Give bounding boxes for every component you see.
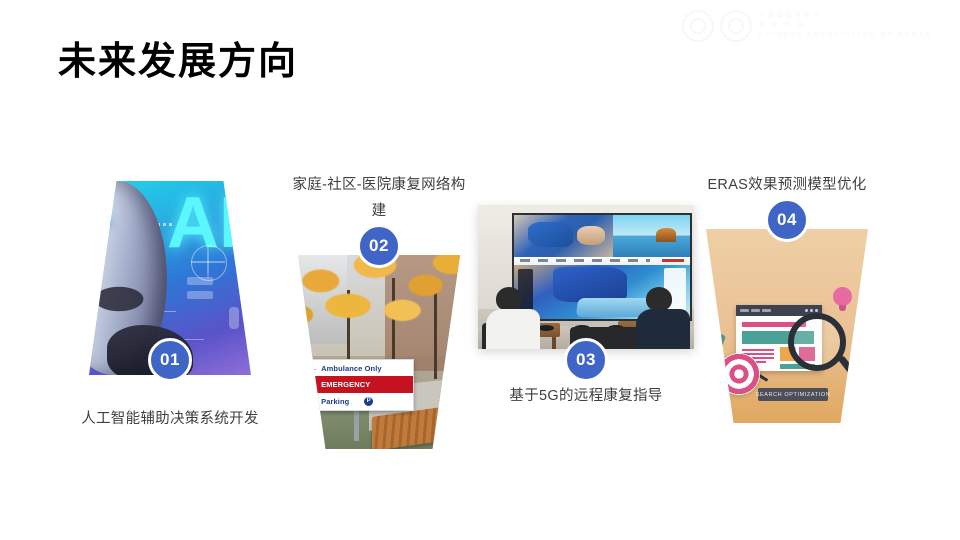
card-02-shape: ← Ambulance Only ← EMERGENCY ← Parking P… (289, 246, 469, 458)
sign-row-emergency: ← EMERGENCY (305, 376, 413, 393)
card-03-image (478, 205, 694, 349)
attendee-right (646, 287, 690, 349)
card-03-number-badge: 03 (564, 338, 608, 382)
card-02-image: ← Ambulance Only ← EMERGENCY ← Parking P (298, 255, 460, 449)
hud-plate-2 (187, 291, 213, 299)
attendee-right-head (646, 287, 672, 311)
browser-dot-3 (815, 309, 818, 312)
watermark-line-2: 康 复 科 普 (758, 22, 932, 30)
search-icon (788, 313, 846, 371)
card-03-caption: 基于5G的远程康复指导 (478, 383, 694, 409)
microphone-1 (538, 325, 554, 331)
watermark-text: 中国康复医学会 康 复 科 普 CHINESE ASSOCIATION OF R… (758, 12, 932, 40)
scenery-feed (613, 215, 690, 257)
card-02-caption: 家庭-社区-医院康复网络构建 (289, 172, 469, 224)
card-04[interactable]: ERAS效果预测模型优化 (697, 172, 877, 432)
card-04-caption: ERAS效果预测模型优化 (697, 172, 877, 198)
sign-post (354, 409, 359, 441)
sign-text-ambulance: Ambulance Only (321, 364, 382, 373)
watermark-line-1: 中国康复医学会 (758, 12, 932, 20)
hud-plate-3 (229, 307, 239, 329)
lightbulb-icon (833, 287, 852, 306)
watermark-line-3: CHINESE ASSOCIATION OF REHAB (758, 32, 932, 40)
card-04-number-badge: 04 (765, 198, 809, 242)
operating-room-feed (514, 215, 613, 257)
hospital-signboard: ← Ambulance Only ← EMERGENCY ← Parking P (304, 359, 414, 411)
sign-text-parking: Parking (321, 397, 349, 406)
globe-icon (191, 245, 227, 281)
card-01-shape: AI 01 (80, 172, 260, 384)
card-01-number-badge: 01 (148, 338, 192, 382)
card-02-number-badge: 02 (357, 224, 401, 268)
autumn-foliage (298, 255, 460, 360)
watermark-logo: 中国康复医学会 康 复 科 普 CHINESE ASSOCIATION OF R… (682, 10, 932, 42)
attendee-left-body (486, 309, 540, 349)
attendee-right-body (636, 309, 690, 349)
seo-label: SEARCH OPTIMIZATION (758, 388, 828, 401)
watermark-seal-icon (682, 10, 714, 42)
app-toolbar (514, 257, 690, 265)
desk-leg-2 (552, 337, 556, 349)
attendee-left-head (496, 287, 522, 311)
watermark-seal-secondary-icon (720, 10, 752, 42)
card-04-shape: SEARCH OPTIMIZATION 04 (697, 220, 877, 432)
parking-icon: P (364, 397, 373, 406)
card-02[interactable]: 家庭-社区-医院康复网络构建 ← Ambulance Only (289, 172, 469, 458)
seo-illustration-artwork: SEARCH OPTIMIZATION (706, 229, 868, 423)
hud-plate-1 (187, 277, 213, 285)
card-01-caption: 人工智能辅助决策系统开发 (80, 406, 260, 432)
surgical-drape (553, 267, 627, 302)
browser-tab-1 (740, 309, 749, 312)
sign-row-ambulance: ← Ambulance Only (305, 360, 413, 376)
telemedicine-room-artwork (478, 205, 694, 349)
browser-dot-2 (810, 309, 813, 312)
card-01[interactable]: AI 01 人工智能辅助决策系统开发 (80, 172, 260, 432)
attendee-left (496, 287, 540, 349)
card-04-image: SEARCH OPTIMIZATION (706, 229, 868, 423)
browser-window-controls (805, 309, 818, 312)
browser-tab-2 (751, 309, 760, 312)
sign-row-parking: ← Parking P (305, 393, 413, 409)
video-wall-top-row (514, 215, 690, 257)
browser-tab-3 (762, 309, 771, 312)
hospital-sign-artwork: ← Ambulance Only ← EMERGENCY ← Parking P (298, 255, 460, 449)
card-03[interactable]: 03 基于5G的远程康复指导 (478, 205, 694, 409)
card-03-shape: 03 (478, 205, 694, 349)
page-title: 未来发展方向 (58, 38, 298, 86)
content-line-1 (742, 349, 774, 351)
sign-text-emergency: EMERGENCY (321, 380, 370, 389)
browser-dot-1 (805, 309, 808, 312)
